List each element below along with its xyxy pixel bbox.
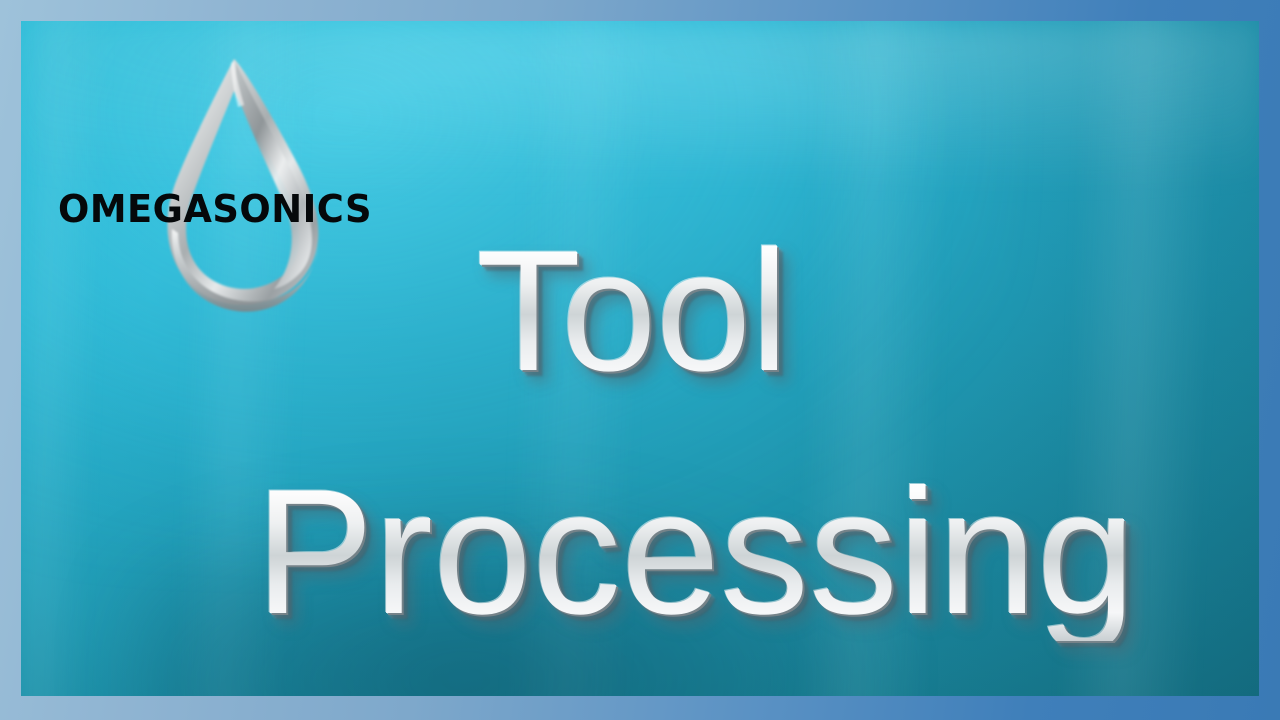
water-droplet-icon	[38, 29, 438, 329]
video-player: OMEGASONICS Tool Processing	[0, 0, 1280, 720]
title-line-1: Tool	[476, 225, 788, 397]
brand-logo: OMEGASONICS	[38, 29, 438, 329]
brand-wordmark: OMEGASONICS	[58, 186, 427, 232]
video-frame[interactable]: OMEGASONICS Tool Processing	[21, 21, 1259, 696]
title-line-2: Processing	[255, 463, 1136, 641]
